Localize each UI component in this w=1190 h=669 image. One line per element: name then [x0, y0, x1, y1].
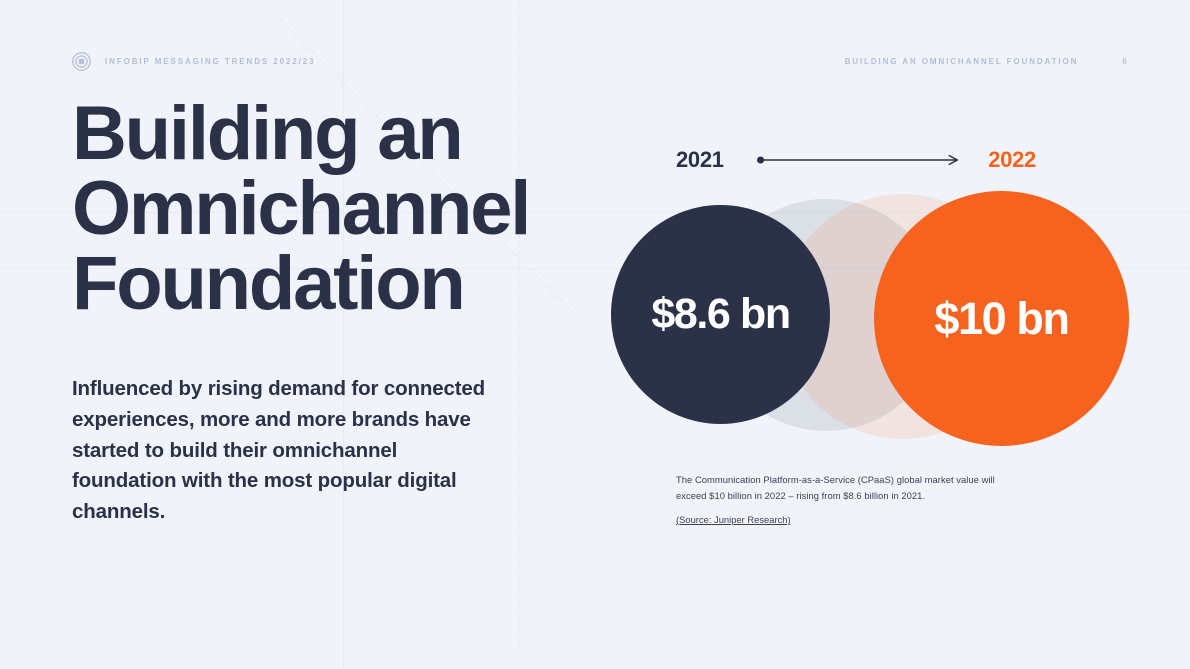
slide: INFOBIP MESSAGING TRENDS 2022/23 BUILDIN… [0, 0, 1190, 669]
bubble-chart: $8.6 bn $10 bn [600, 185, 1145, 455]
section-title: BUILDING AN OMNICHANNEL FOUNDATION [845, 57, 1079, 66]
chart-caption: The Communication Platform-as-a-Service … [676, 472, 1016, 528]
concentric-target-icon [72, 52, 91, 71]
header-right: BUILDING AN OMNICHANNEL FOUNDATION 6 [845, 57, 1128, 66]
caption-text: The Communication Platform-as-a-Service … [676, 472, 1016, 503]
right-arrow-icon [757, 154, 962, 166]
page-title: Building an Omnichannel Foundation [72, 96, 552, 322]
bubble-2022: $10 bn [874, 191, 1129, 446]
page-number: 6 [1122, 57, 1128, 66]
bubble-2022-value: $10 bn [934, 293, 1068, 345]
brand-text: INFOBIP MESSAGING TRENDS 2022/23 [105, 57, 315, 66]
timeline-arrow [757, 154, 962, 166]
source-link[interactable]: (Source: Juniper Research) [676, 512, 791, 527]
body-paragraph: Influenced by rising demand for connecte… [72, 374, 502, 528]
brand: INFOBIP MESSAGING TRENDS 2022/23 [72, 52, 315, 71]
year-to-label: 2022 [988, 147, 1036, 173]
slide-header: INFOBIP MESSAGING TRENDS 2022/23 BUILDIN… [72, 48, 1128, 74]
year-from-label: 2021 [676, 147, 724, 173]
bubble-2021: $8.6 bn [611, 205, 830, 424]
timeline: 2021 2022 [676, 144, 1036, 176]
bubble-2021-value: $8.6 bn [651, 290, 789, 339]
